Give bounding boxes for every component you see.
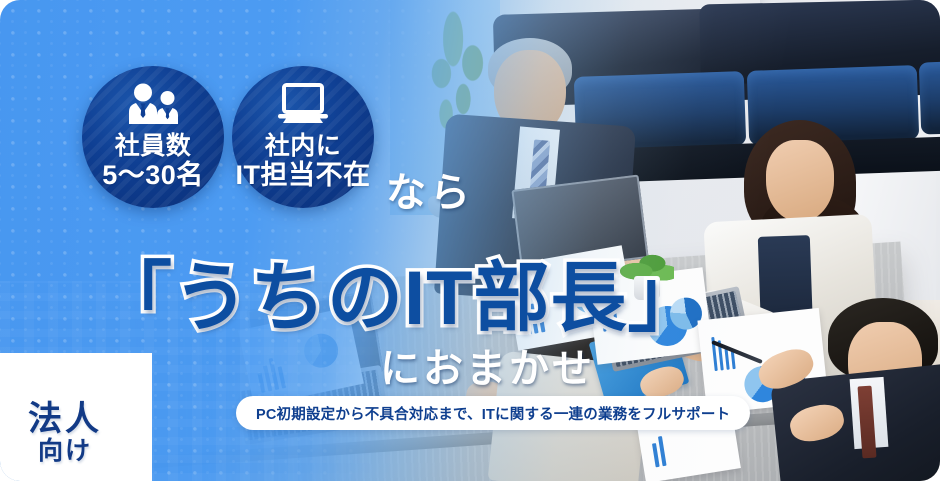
headline-text: 「うちのIT部長」 bbox=[96, 236, 705, 346]
corner-line-2: 向け bbox=[0, 438, 130, 466]
subheadline-text: におまかせ bbox=[380, 336, 595, 394]
promo-banner: 社員数 5〜30名 社内に IT担当不在 なら 「うちのIT部長」 におまかせ … bbox=[0, 0, 940, 481]
badge-label: 社員数 5〜30名 bbox=[102, 132, 204, 190]
badge-no-it-staff: 社内に IT担当不在 bbox=[232, 66, 374, 208]
badge-employee-count: 社員数 5〜30名 bbox=[82, 66, 224, 208]
badge-label: 社内に IT担当不在 bbox=[236, 132, 371, 190]
two-people-icon bbox=[123, 83, 183, 130]
connector-text: なら bbox=[386, 160, 474, 218]
corner-line-1: 法人 bbox=[0, 402, 130, 438]
corporate-corner-tab: 法人 向け bbox=[0, 353, 152, 481]
laptop-icon bbox=[274, 83, 332, 130]
corner-label: 法人 向け bbox=[0, 402, 130, 465]
tagline-text: PC初期設定から不具合対応まで、ITに関する一連の業務をフルサポート bbox=[256, 403, 730, 424]
tagline-pill: PC初期設定から不具合対応まで、ITに関する一連の業務をフルサポート bbox=[236, 396, 750, 430]
